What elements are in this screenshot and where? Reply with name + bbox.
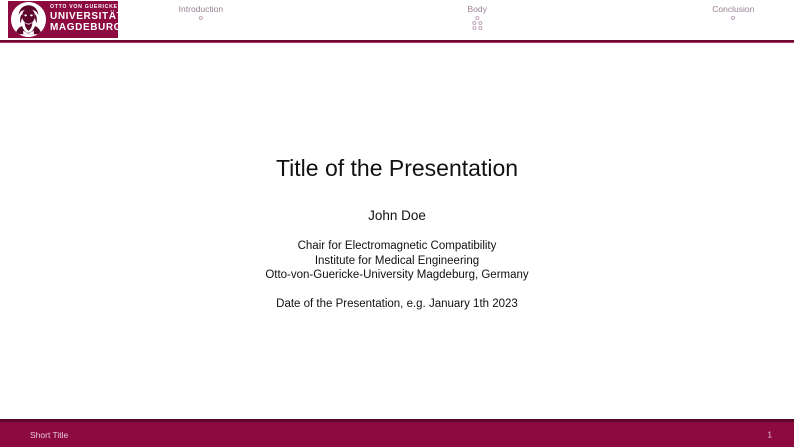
presentation-slide: OTTO VON GUERICKE UNIVERSITÄT MAGDEBURG …	[0, 0, 794, 447]
logo-line-magdeburg: MAGDEBURG	[50, 23, 118, 33]
affiliation-block: Chair for Electromagnetic Compatibility …	[0, 239, 794, 283]
nav-dots-introduction	[179, 16, 223, 20]
footer-page-number: 1	[768, 430, 772, 439]
nav-section-body[interactable]: Body	[468, 4, 487, 30]
nav-dot[interactable]	[472, 21, 476, 25]
section-navigation: Introduction Body	[120, 0, 794, 40]
logo-wordmark: OTTO VON GUERICKE UNIVERSITÄT MAGDEBURG	[50, 5, 118, 33]
nav-dot-row	[472, 26, 482, 30]
nav-dot[interactable]	[199, 16, 203, 20]
nav-dot[interactable]	[478, 21, 482, 25]
nav-dot[interactable]	[478, 26, 482, 30]
nav-dot-row	[472, 21, 482, 25]
nav-dot-row	[475, 16, 479, 20]
nav-dot[interactable]	[475, 16, 479, 20]
university-logo: OTTO VON GUERICKE UNIVERSITÄT MAGDEBURG	[8, 1, 118, 38]
nav-label-introduction: Introduction	[179, 4, 223, 15]
nav-dot-row	[199, 16, 203, 20]
nav-dot[interactable]	[731, 16, 735, 20]
presentation-date: Date of the Presentation, e.g. January 1…	[0, 297, 794, 312]
affiliation-line-2: Institute for Medical Engineering	[0, 254, 794, 269]
nav-dot[interactable]	[472, 26, 476, 30]
affiliation-line-1: Chair for Electromagnetic Compatibility	[0, 239, 794, 254]
nav-section-conclusion[interactable]: Conclusion	[712, 4, 754, 20]
nav-section-introduction[interactable]: Introduction	[179, 4, 223, 20]
page-title: Title of the Presentation	[0, 153, 794, 183]
slide-header: OTTO VON GUERICKE UNIVERSITÄT MAGDEBURG …	[0, 0, 794, 40]
title-block: Title of the Presentation John Doe Chair…	[0, 153, 794, 312]
author-name: John Doe	[0, 207, 794, 225]
nav-dots-body	[468, 16, 487, 30]
nav-label-conclusion: Conclusion	[712, 4, 754, 15]
nav-dots-conclusion	[712, 16, 754, 20]
nav-dot-row	[731, 16, 735, 20]
nav-label-body: Body	[468, 4, 487, 15]
affiliation-line-3: Otto-von-Guericke-University Magdeburg, …	[0, 268, 794, 283]
slide-footer: Short Title 1	[0, 422, 794, 447]
logo-line-universitaet: UNIVERSITÄT	[50, 12, 118, 22]
footer-short-title: Short Title	[30, 430, 68, 440]
guericke-portrait-icon	[11, 2, 46, 37]
logo-line-otto-von-guericke: OTTO VON GUERICKE	[50, 5, 118, 10]
slide-content: Title of the Presentation John Doe Chair…	[0, 43, 794, 419]
